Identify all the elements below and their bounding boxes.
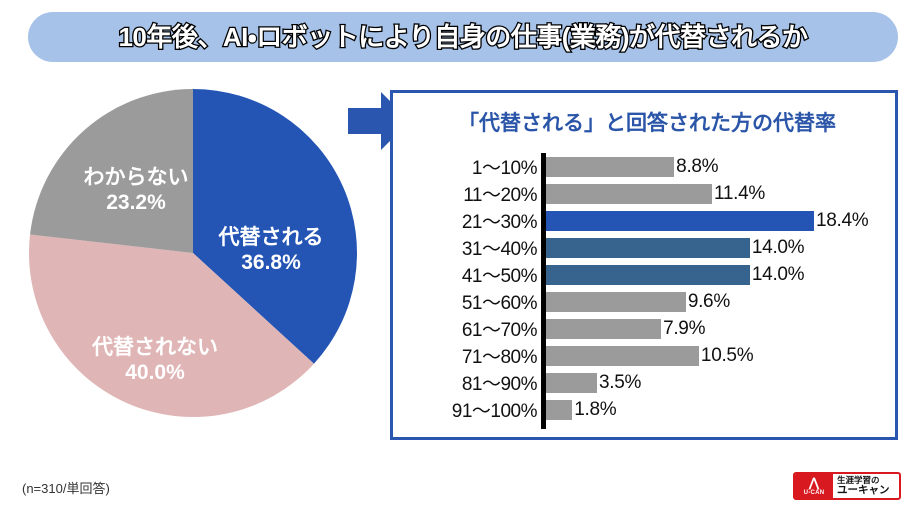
ucan-mark-icon: ⋀ bbox=[809, 476, 820, 489]
ucan-name: ユーキャン bbox=[837, 485, 899, 496]
bar-category-label: 91〜100% bbox=[393, 396, 541, 423]
bar-row: 61〜70%7.9% bbox=[393, 315, 901, 342]
pie-slice bbox=[30, 89, 193, 253]
pie-chart-container: 代替される 36.8% 代替されない 40.0% わからない 23.2% bbox=[28, 88, 358, 418]
bar-row: 11〜20%11.4% bbox=[393, 180, 901, 207]
page-title: 10年後、AI・ロボットにより自身の仕事(業務)が代替されるか bbox=[28, 12, 898, 62]
bar-category-label: 51〜60% bbox=[393, 288, 541, 315]
bar-category-label: 41〜50% bbox=[393, 261, 541, 288]
bar-fill bbox=[546, 184, 712, 204]
bar-value-label: 7.9% bbox=[663, 318, 705, 340]
bar-body: 8.8% bbox=[546, 156, 718, 178]
bar-body: 7.9% bbox=[546, 318, 705, 340]
bar-fill bbox=[546, 238, 750, 258]
bar-row: 81〜90%3.5% bbox=[393, 369, 901, 396]
bar-category-label: 11〜20% bbox=[393, 180, 541, 207]
ucan-brand-text: U-CAN bbox=[804, 490, 825, 496]
ucan-logo-badge: ⋀ U-CAN bbox=[795, 474, 833, 498]
bar-body: 18.4% bbox=[546, 210, 868, 232]
bar-fill bbox=[546, 157, 674, 177]
bar-body: 1.8% bbox=[546, 399, 616, 421]
bar-body: 14.0% bbox=[546, 264, 804, 286]
bar-body: 14.0% bbox=[546, 237, 804, 259]
bar-category-label: 61〜70% bbox=[393, 315, 541, 342]
bar-body: 9.6% bbox=[546, 291, 730, 313]
bar-chart-panel: 「代替される」と回答された方の代替率 1〜10%8.8%11〜20%11.4%2… bbox=[390, 90, 898, 440]
bar-body: 3.5% bbox=[546, 372, 641, 394]
bar-category-label: 21〜30% bbox=[393, 207, 541, 234]
bar-body: 10.5% bbox=[546, 345, 753, 367]
bar-value-label: 14.0% bbox=[752, 237, 804, 259]
bar-value-label: 3.5% bbox=[599, 372, 641, 394]
bar-value-label: 11.4% bbox=[714, 183, 765, 205]
bar-category-label: 1〜10% bbox=[393, 153, 541, 180]
bar-row: 21〜30%18.4% bbox=[393, 207, 901, 234]
bar-fill bbox=[546, 211, 814, 231]
ucan-logo: ⋀ U-CAN 生涯学習の ユーキャン bbox=[793, 472, 901, 500]
bar-row: 51〜60%9.6% bbox=[393, 288, 901, 315]
bar-fill bbox=[546, 346, 699, 366]
bar-body: 11.4% bbox=[546, 183, 765, 205]
bar-category-label: 31〜40% bbox=[393, 234, 541, 261]
bar-category-label: 81〜90% bbox=[393, 369, 541, 396]
ucan-logo-text: 生涯学習の ユーキャン bbox=[833, 474, 899, 498]
sample-size-note: (n=310/単回答) bbox=[22, 478, 110, 497]
bar-chart-area: 1〜10%8.8%11〜20%11.4%21〜30%18.4%31〜40%14.… bbox=[393, 151, 901, 433]
bar-row: 91〜100%1.8% bbox=[393, 396, 901, 423]
bar-row: 41〜50%14.0% bbox=[393, 261, 901, 288]
bar-fill bbox=[546, 319, 661, 339]
bar-row: 71〜80%10.5% bbox=[393, 342, 901, 369]
bar-fill bbox=[546, 400, 572, 420]
bar-value-label: 10.5% bbox=[701, 345, 753, 367]
bar-value-label: 1.8% bbox=[574, 399, 616, 421]
bar-fill bbox=[546, 373, 597, 393]
bar-value-label: 9.6% bbox=[688, 291, 730, 313]
bar-fill bbox=[546, 265, 750, 285]
bar-value-label: 18.4% bbox=[816, 210, 868, 232]
bar-value-label: 14.0% bbox=[752, 264, 804, 286]
bar-category-label: 71〜80% bbox=[393, 342, 541, 369]
bar-row: 31〜40%14.0% bbox=[393, 234, 901, 261]
bar-value-label: 8.8% bbox=[676, 156, 718, 178]
pie-chart bbox=[28, 88, 358, 418]
panel-title: 「代替される」と回答された方の代替率 bbox=[393, 107, 901, 137]
bar-row: 1〜10%8.8% bbox=[393, 153, 901, 180]
header-banner: 10年後、AI・ロボットにより自身の仕事(業務)が代替されるか bbox=[28, 12, 898, 62]
bar-fill bbox=[546, 292, 686, 312]
